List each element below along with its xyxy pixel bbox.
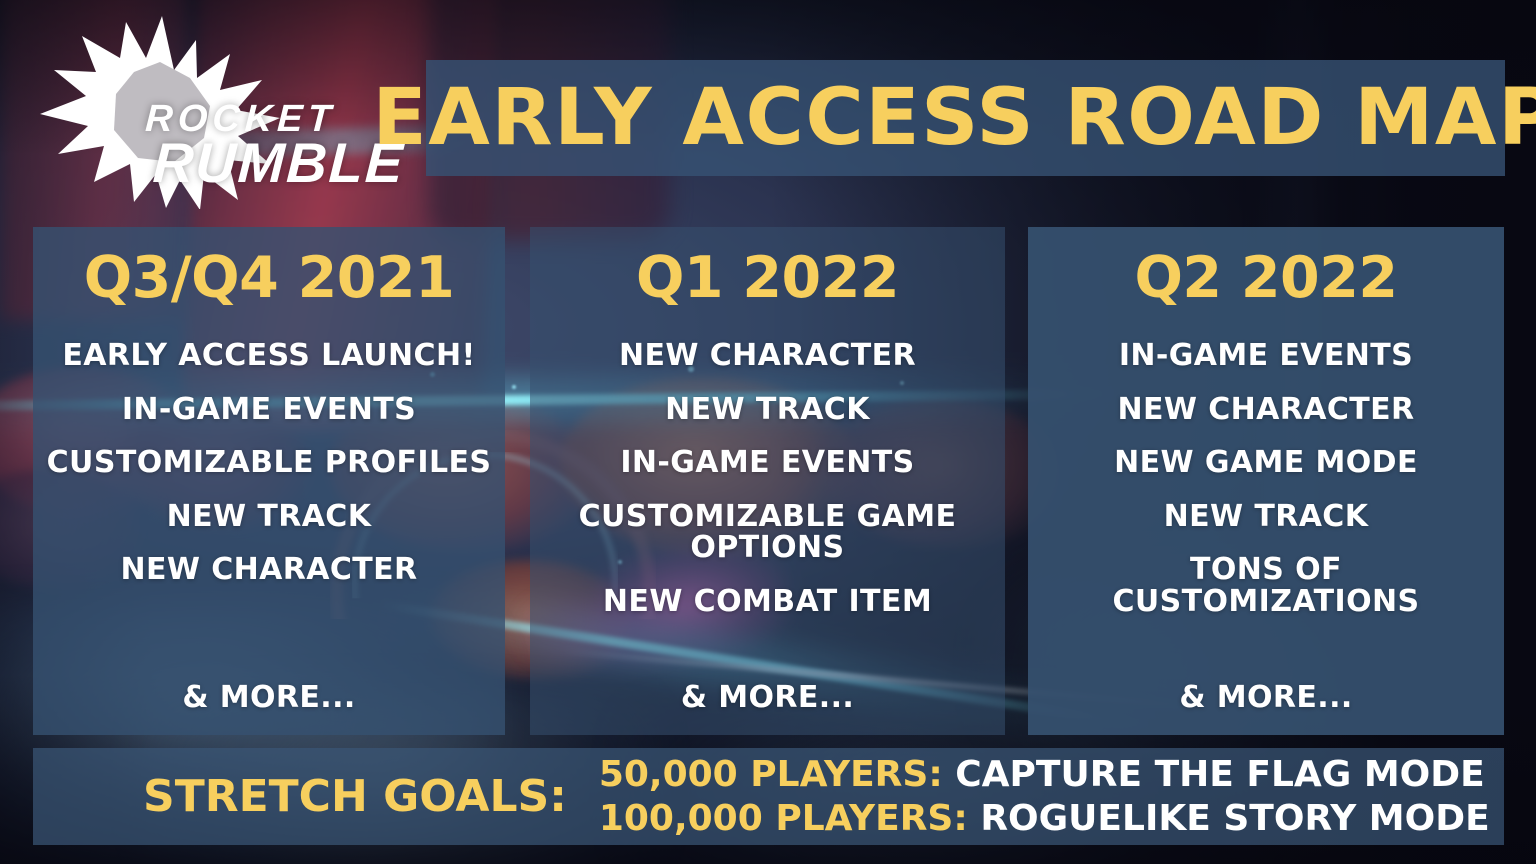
quarter-title: Q3/Q4 2021	[84, 245, 455, 311]
feature-item: NEW TRACK	[45, 501, 493, 533]
stretch-goal-milestone: 50,000 PLAYERS:	[599, 754, 943, 795]
feature-item: IN-GAME EVENTS	[45, 394, 493, 426]
quarter-panel-q1-2022: Q1 2022 NEW CHARACTER NEW TRACK IN-GAME …	[530, 227, 1005, 735]
feature-item: IN-GAME EVENTS	[542, 447, 993, 479]
quarter-title: Q2 2022	[1134, 245, 1397, 311]
feature-item: CUSTOMIZABLE GAME OPTIONS	[542, 501, 993, 564]
feature-item: NEW CHARACTER	[1040, 394, 1492, 426]
feature-item: NEW COMBAT ITEM	[542, 586, 993, 618]
stretch-goals-banner: STRETCH GOALS: 50,000 PLAYERS: CAPTURE T…	[33, 748, 1504, 845]
logo-line-rumble: RUMBLE	[152, 137, 406, 189]
logo-wordmark: ROCKET RUMBLE	[142, 102, 408, 188]
brand-logo: ROCKET RUMBLE	[34, 14, 404, 209]
feature-item-more: & MORE...	[45, 682, 493, 714]
quarter-feature-list: NEW CHARACTER NEW TRACK IN-GAME EVENTS C…	[530, 329, 1005, 735]
stretch-goals-label: STRETCH GOALS:	[143, 771, 567, 822]
feature-item-more: & MORE...	[542, 682, 993, 714]
page-title: EARLY ACCESS ROAD MAP	[373, 73, 1536, 163]
quarter-panel-q2-2022: Q2 2022 IN-GAME EVENTS NEW CHARACTER NEW…	[1028, 227, 1504, 735]
feature-item: IN-GAME EVENTS	[1040, 340, 1492, 372]
stretch-goal-milestone: 100,000 PLAYERS:	[599, 798, 968, 839]
feature-item: NEW CHARACTER	[45, 554, 493, 586]
stretch-goal-row: 100,000 PLAYERS: ROGUELIKE STORY MODE	[599, 797, 1490, 841]
feature-item: NEW CHARACTER	[542, 340, 993, 372]
stretch-goal-reward: ROGUELIKE STORY MODE	[980, 798, 1489, 839]
feature-item: TONS OF CUSTOMIZATIONS	[1040, 554, 1492, 617]
quarter-title: Q1 2022	[636, 245, 899, 311]
feature-item: NEW TRACK	[542, 394, 993, 426]
feature-item: NEW GAME MODE	[1040, 447, 1492, 479]
stretch-goals-rows: 50,000 PLAYERS: CAPTURE THE FLAG MODE 10…	[599, 753, 1490, 841]
stretch-goal-row: 50,000 PLAYERS: CAPTURE THE FLAG MODE	[599, 753, 1490, 797]
quarter-panel-q3q4-2021: Q3/Q4 2021 EARLY ACCESS LAUNCH! IN-GAME …	[33, 227, 505, 735]
feature-item: NEW TRACK	[1040, 501, 1492, 533]
feature-item: CUSTOMIZABLE PROFILES	[45, 447, 493, 479]
feature-item-more: & MORE...	[1040, 682, 1492, 714]
roadmap-infographic: ROCKET RUMBLE EARLY ACCESS ROAD MAP Q3/Q…	[0, 0, 1536, 864]
stretch-goal-reward: CAPTURE THE FLAG MODE	[955, 754, 1485, 795]
quarter-feature-list: IN-GAME EVENTS NEW CHARACTER NEW GAME MO…	[1028, 329, 1504, 735]
title-banner: EARLY ACCESS ROAD MAP	[426, 60, 1505, 176]
quarter-feature-list: EARLY ACCESS LAUNCH! IN-GAME EVENTS CUST…	[33, 329, 505, 735]
feature-item: EARLY ACCESS LAUNCH!	[45, 340, 493, 372]
